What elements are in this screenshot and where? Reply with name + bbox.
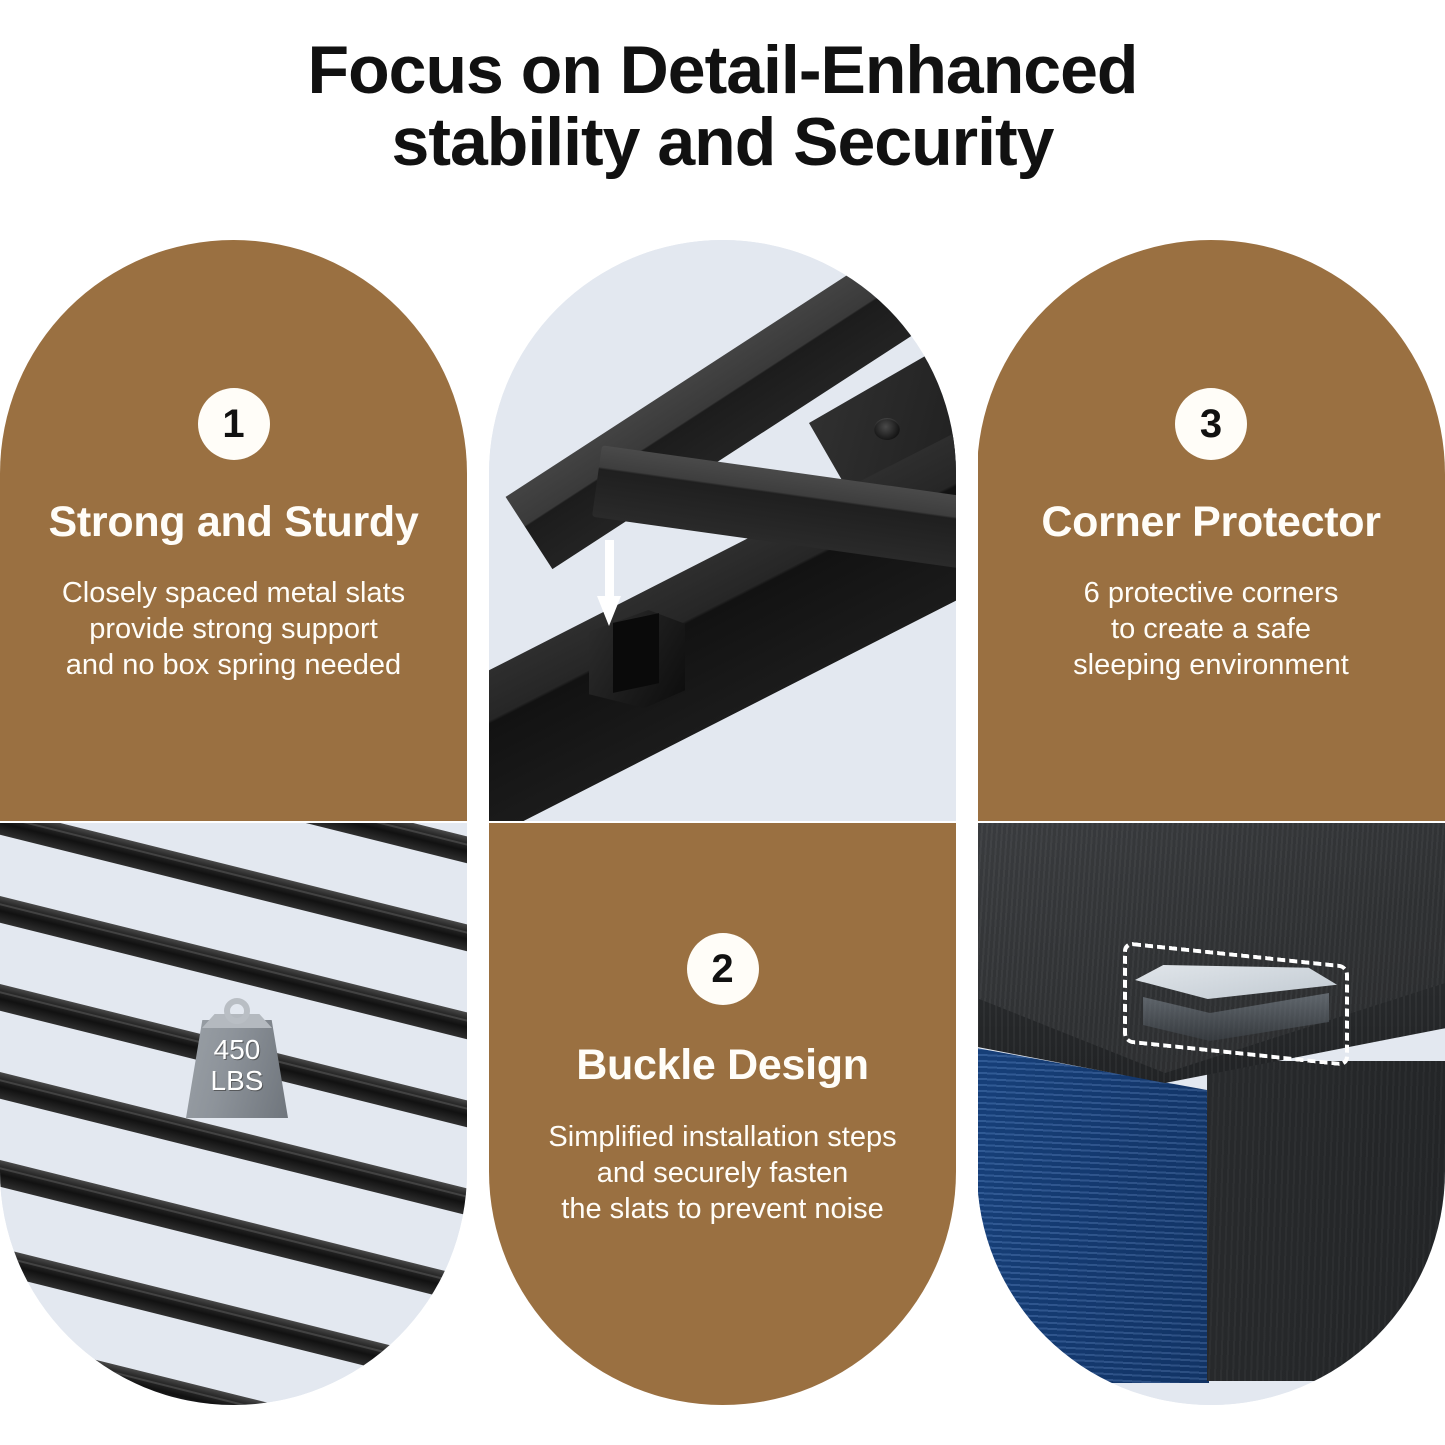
- feature-card-3: 3 Corner Protector 6 protective corners …: [977, 240, 1445, 821]
- feature-title-1: Strong and Sturdy: [0, 498, 467, 547]
- screw-icon: [874, 418, 900, 440]
- feature-card-2: 2 Buckle Design Simplified installation …: [489, 823, 956, 1405]
- feature-card-1: 1 Strong and Sturdy Closely spaced metal…: [0, 240, 467, 821]
- step-number-badge-2: 2: [687, 933, 759, 1005]
- weight-label: 450 LBS: [178, 1034, 296, 1096]
- frame-side-face: [1207, 1061, 1445, 1381]
- step-number-1: 1: [222, 404, 244, 444]
- corner-protector-photo: [977, 823, 1445, 1405]
- buckle-photo: [489, 240, 956, 821]
- corner-illustration: [977, 823, 1445, 1405]
- feature-body-2: Simplified installation steps and secure…: [489, 1119, 956, 1227]
- column-gutter-left: [467, 240, 489, 1410]
- column-gutter-right: [956, 240, 978, 1410]
- feature-title-2: Buckle Design: [489, 1041, 956, 1090]
- step-number-badge-1: 1: [198, 388, 270, 460]
- buckle-illustration: [489, 240, 956, 821]
- feature-body-1: Closely spaced metal slats provide stron…: [0, 575, 467, 683]
- step-number-2: 2: [711, 949, 733, 989]
- feature-panel-grid: 1 Strong and Sturdy Closely spaced metal…: [0, 240, 1445, 1410]
- feature-body-3: 6 protective corners to create a safe sl…: [977, 575, 1445, 683]
- weight-icon: 450 LBS: [178, 998, 296, 1120]
- step-number-3: 3: [1200, 404, 1222, 444]
- step-number-badge-3: 3: [1175, 388, 1247, 460]
- down-arrow-icon: [597, 540, 621, 630]
- title-line-2: stability and Security: [0, 106, 1445, 178]
- feature-title-3: Corner Protector: [977, 498, 1445, 547]
- title-line-1: Focus on Detail-Enhanced: [0, 34, 1445, 106]
- page-title: Focus on Detail-Enhanced stability and S…: [0, 34, 1445, 178]
